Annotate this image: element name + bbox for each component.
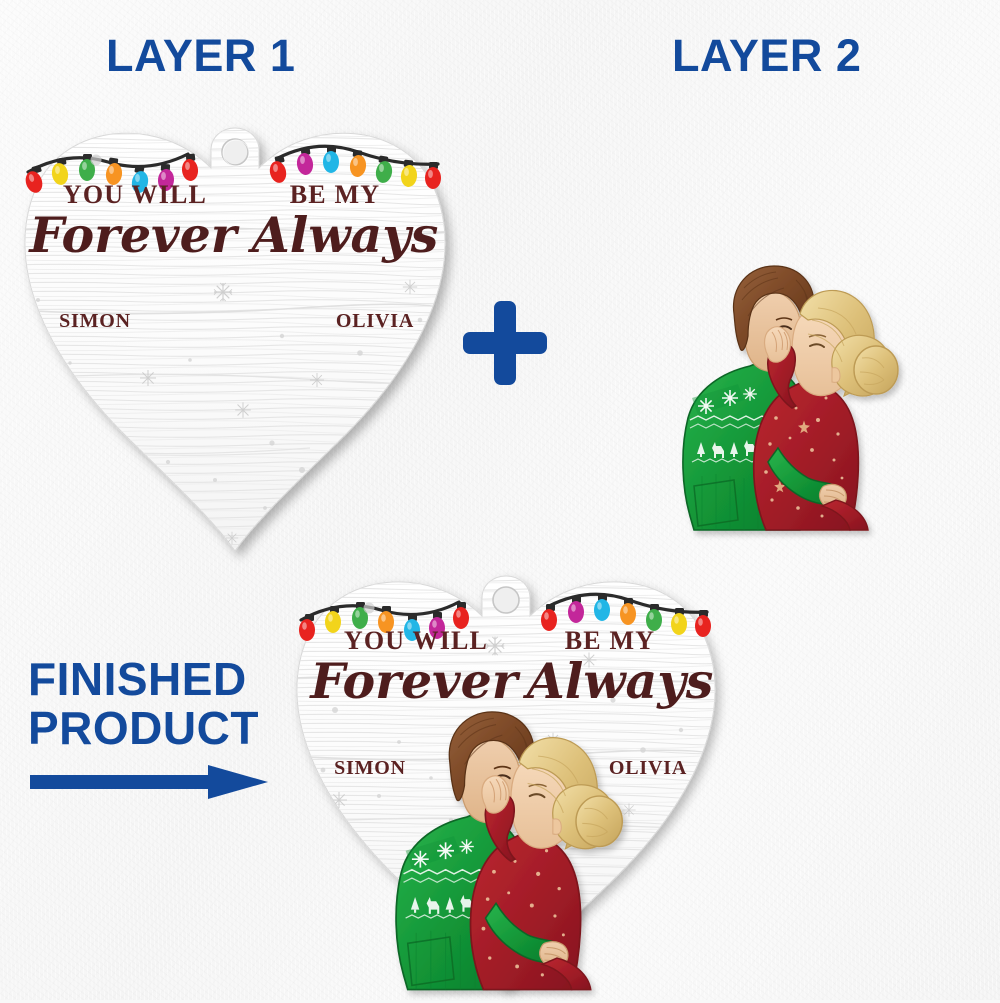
layer-2-label: LAYER 2 xyxy=(672,30,861,82)
layer-2-couple-figure xyxy=(672,248,920,538)
finished-product-label: FINISHED PRODUCT xyxy=(28,655,259,753)
right-arrow-icon xyxy=(30,765,268,799)
finished-product-couple-figure xyxy=(376,693,654,998)
layer-1-label: LAYER 1 xyxy=(106,30,295,82)
plus-icon-vertical-bar xyxy=(494,301,516,385)
layer-1-heart-ornament: YOU WILL Forever BE MY Always SIMON OLIV… xyxy=(10,110,460,558)
product-mockup-canvas: LAYER 1 LAYER 2 FINISHED PRODUCT xyxy=(0,0,1000,1000)
plus-icon xyxy=(463,301,547,385)
